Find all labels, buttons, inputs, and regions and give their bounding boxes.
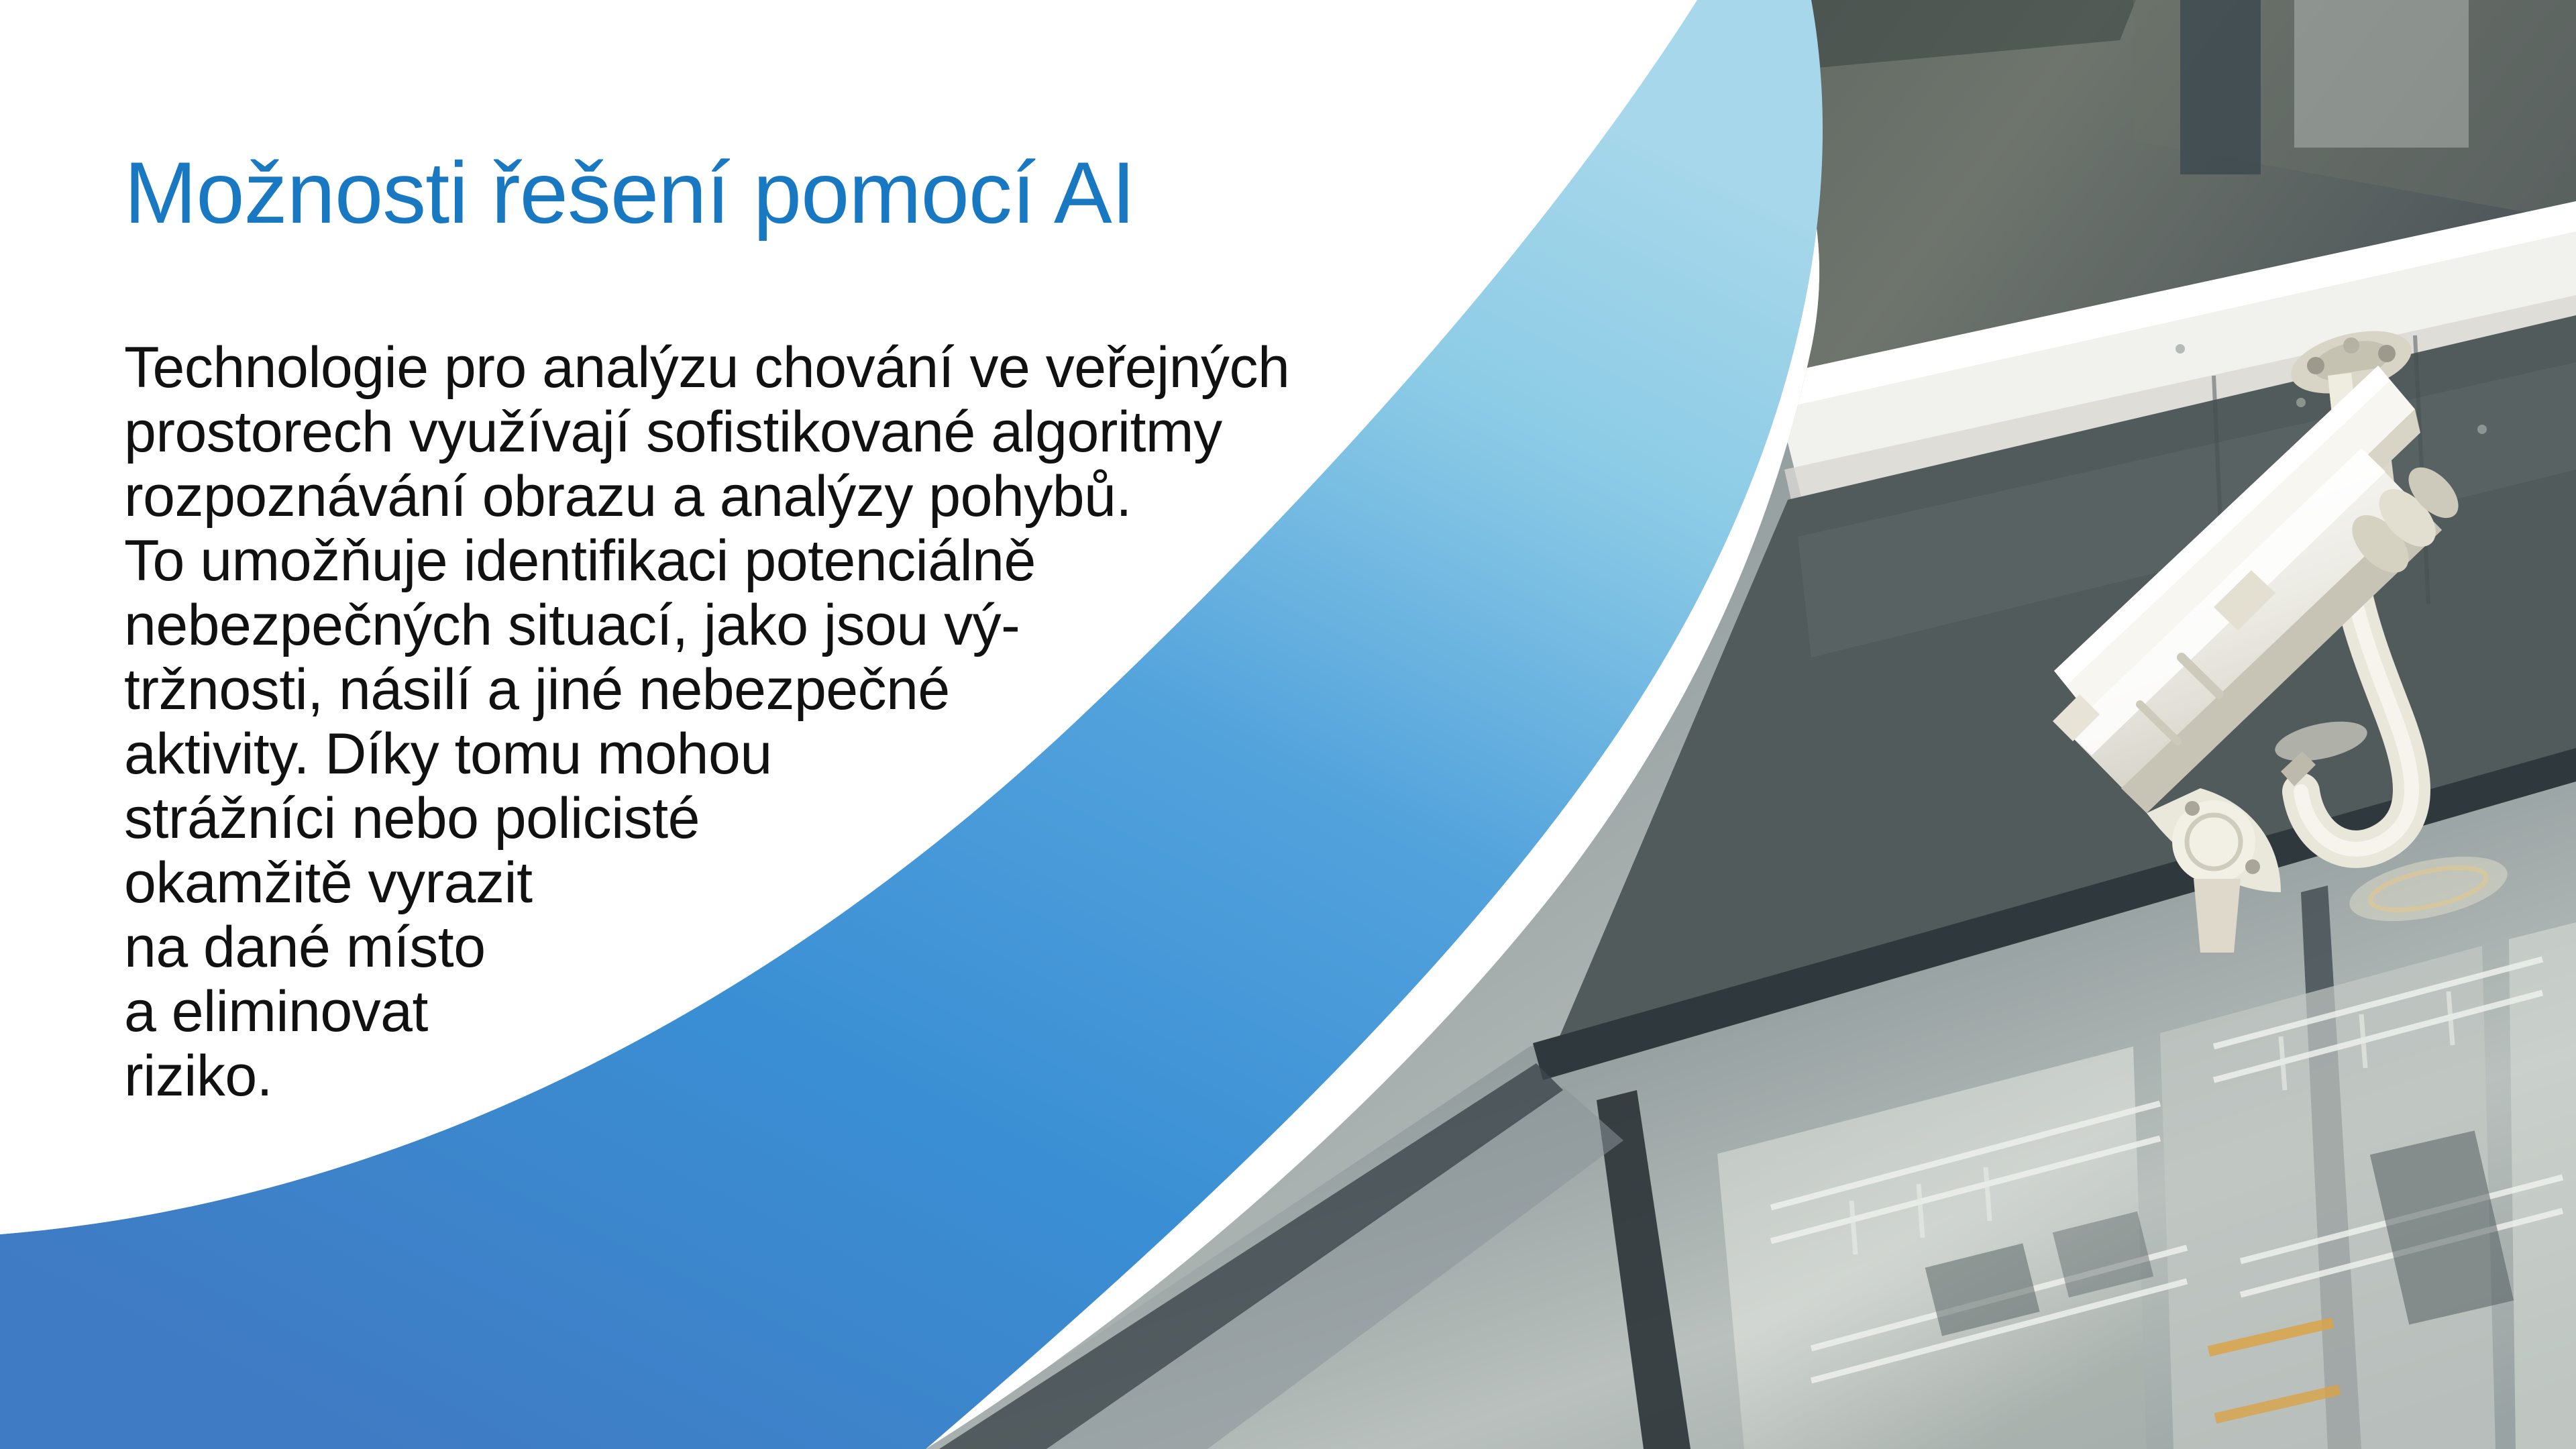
body-line: To umožňuje identifikaci potenciálně [124, 529, 1399, 593]
body-line: a eliminovat [124, 979, 1399, 1044]
presentation-slide: Možnosti řešení pomocí AI Technologie pr… [0, 0, 2576, 1449]
body-line: rozpoznávání obrazu a analýzy pohybů. [124, 464, 1399, 529]
page-title: Možnosti řešení pomocí AI [124, 149, 1135, 236]
body-line: na dané místo [124, 915, 1399, 979]
body-line: Technologie pro analýzu chování ve veřej… [124, 335, 1399, 400]
body-line: okamžitě vyrazit [124, 851, 1399, 915]
body-line: riziko. [124, 1044, 1399, 1108]
body-line: prostorech využívají sofistikované algor… [124, 400, 1399, 464]
body-paragraph: Technologie pro analýzu chování ve veřej… [124, 335, 1399, 1108]
body-line: aktivity. Díky tomu mohou [124, 722, 1399, 786]
body-line: nebezpečných situací, jako jsou vý- [124, 593, 1399, 657]
body-line: tržnosti, násilí a jiné nebezpečné [124, 657, 1399, 722]
slide-text-block: Možnosti řešení pomocí AI Technologie pr… [124, 0, 1466, 1449]
body-line: strážníci nebo policisté [124, 786, 1399, 851]
